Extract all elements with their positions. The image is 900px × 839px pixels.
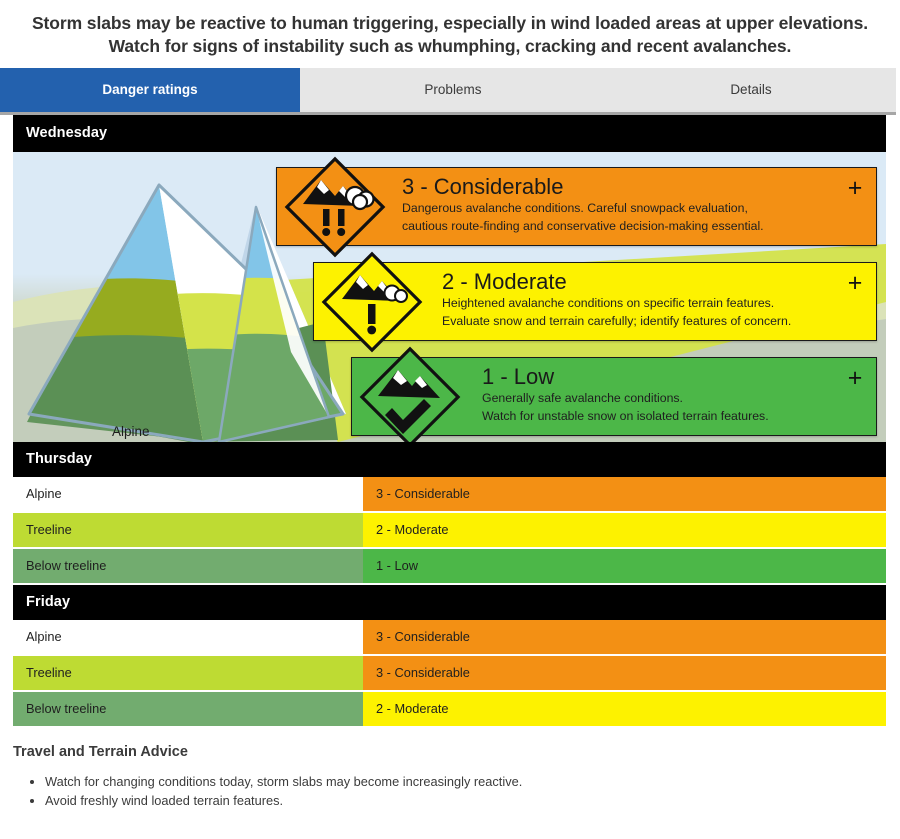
row-danger-value: 3 - Considerable: [363, 477, 886, 511]
row-elevation-label: Below treeline: [13, 549, 363, 583]
danger-rating-alpine-desc-line2: cautious route-finding and conservative …: [402, 218, 834, 235]
tab-details-label: Details: [730, 82, 771, 97]
list-item: Avoid freshly wind loaded terrain featur…: [45, 791, 886, 811]
advice-heading: Travel and Terrain Advice: [13, 744, 886, 760]
danger-rating-treeline-title: 2 - Moderate: [442, 270, 834, 294]
expand-alpine-button[interactable]: +: [834, 168, 876, 245]
day-header-friday-label: Friday: [26, 594, 70, 610]
forecast-summary-text: Storm slabs may be reactive to human tri…: [0, 0, 900, 68]
danger-considerable-icon: [279, 154, 391, 260]
tab-problems-label: Problems: [424, 82, 481, 97]
day-header-thursday: Thursday: [13, 442, 886, 477]
row-elevation-label: Treeline: [13, 513, 363, 547]
danger-rating-below-treeline-desc-line1: Generally safe avalanche conditions.: [482, 390, 834, 407]
travel-terrain-advice-section: Travel and Terrain Advice Watch for chan…: [0, 728, 900, 812]
danger-low-icon: [354, 344, 466, 442]
danger-rating-below-treeline[interactable]: 1 - Low Generally safe avalanche conditi…: [351, 357, 877, 436]
tab-danger-ratings[interactable]: Danger ratings: [0, 68, 300, 112]
table-row[interactable]: Alpine 3 - Considerable: [13, 477, 886, 513]
forecast-table-friday: Alpine 3 - Considerable Treeline 3 - Con…: [13, 620, 886, 728]
danger-rating-alpine[interactable]: 3 - Considerable Dangerous avalanche con…: [276, 167, 877, 246]
danger-rating-alpine-title: 3 - Considerable: [402, 175, 834, 199]
list-item: Watch for changing conditions today, sto…: [45, 772, 886, 792]
row-danger-value: 2 - Moderate: [363, 692, 886, 726]
row-elevation-label: Treeline: [13, 656, 363, 690]
danger-moderate-icon: [316, 249, 428, 355]
today-danger-rating-graphic: Alpine Treeline Below treeline: [13, 152, 886, 442]
advice-bullet-list: Watch for changing conditions today, sto…: [13, 772, 886, 812]
expand-treeline-button[interactable]: +: [834, 263, 876, 340]
row-danger-value: 2 - Moderate: [363, 513, 886, 547]
danger-rating-treeline[interactable]: 2 - Moderate Heightened avalanche condit…: [313, 262, 877, 341]
danger-ratings-panel: Wednesday: [0, 115, 900, 728]
table-row[interactable]: Alpine 3 - Considerable: [13, 620, 886, 656]
tab-details[interactable]: Details: [606, 68, 896, 112]
row-elevation-label: Alpine: [13, 620, 363, 654]
danger-rating-treeline-desc-line1: Heightened avalanche conditions on speci…: [442, 295, 834, 312]
row-danger-value: 3 - Considerable: [363, 620, 886, 654]
day-header-today-label: Wednesday: [26, 125, 107, 141]
tab-danger-ratings-label: Danger ratings: [102, 82, 197, 97]
table-row[interactable]: Below treeline 2 - Moderate: [13, 692, 886, 728]
danger-rating-alpine-desc-line1: Dangerous avalanche conditions. Careful …: [402, 200, 834, 217]
danger-rating-below-treeline-desc-line2: Watch for unstable snow on isolated terr…: [482, 408, 834, 425]
row-danger-value: 1 - Low: [363, 549, 886, 583]
table-row[interactable]: Below treeline 1 - Low: [13, 549, 886, 585]
tab-bar: Danger ratings Problems Details: [0, 68, 896, 115]
danger-rating-treeline-desc-line2: Evaluate snow and terrain carefully; ide…: [442, 313, 834, 330]
forecast-table-thursday: Alpine 3 - Considerable Treeline 2 - Mod…: [13, 477, 886, 585]
danger-rating-below-treeline-title: 1 - Low: [482, 365, 834, 389]
day-header-today: Wednesday: [13, 115, 886, 152]
table-row[interactable]: Treeline 2 - Moderate: [13, 513, 886, 549]
expand-below-treeline-button[interactable]: +: [834, 358, 876, 435]
row-elevation-label: Below treeline: [13, 692, 363, 726]
day-header-friday: Friday: [13, 585, 886, 620]
tab-problems[interactable]: Problems: [300, 68, 606, 112]
day-header-thursday-label: Thursday: [26, 451, 92, 467]
row-elevation-label: Alpine: [13, 477, 363, 511]
table-row[interactable]: Treeline 3 - Considerable: [13, 656, 886, 692]
row-danger-value: 3 - Considerable: [363, 656, 886, 690]
